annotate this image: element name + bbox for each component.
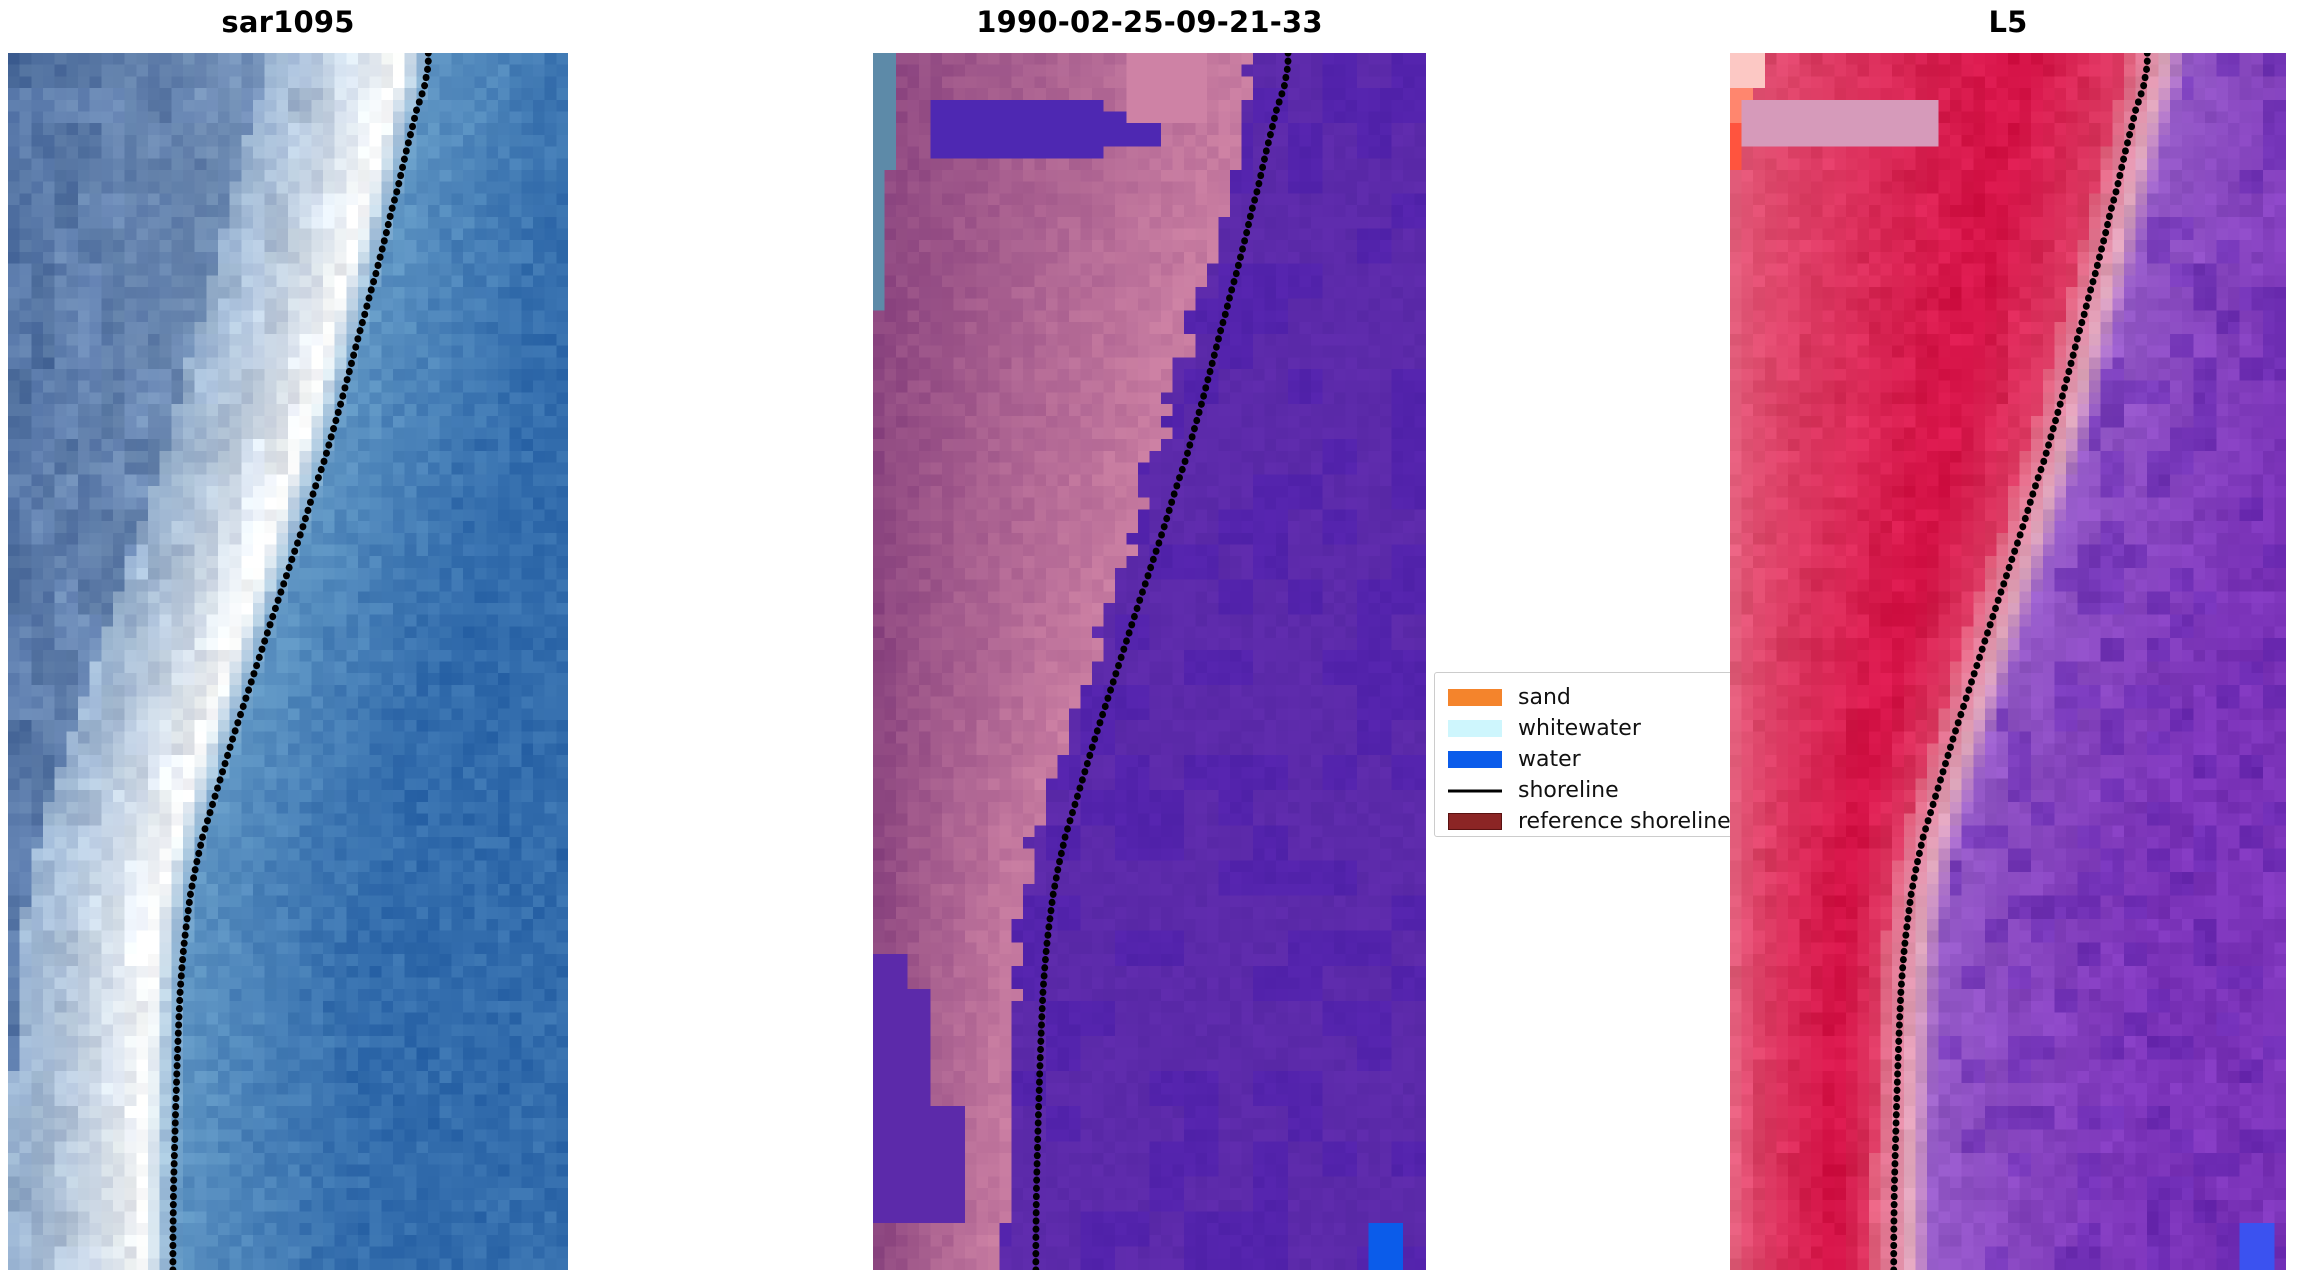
legend-item-shoreline: shoreline bbox=[1448, 775, 1774, 806]
legend-item-water: water bbox=[1448, 744, 1774, 775]
whitewater-swatch bbox=[1448, 720, 1502, 737]
legend-label-shoreline: shoreline bbox=[1518, 780, 1619, 802]
legend-label-whitewater: whitewater bbox=[1518, 718, 1641, 740]
panel-title-l5: L5 bbox=[1730, 5, 2286, 39]
sar-image bbox=[8, 53, 568, 1270]
panel-l5: L5 bbox=[1730, 0, 2286, 1270]
figure-canvas: sar1095 1990-02-25-09-21-33 sand whitewa… bbox=[0, 0, 2297, 1283]
panel-title-sar: sar1095 bbox=[8, 5, 568, 39]
panel-title-classified: 1990-02-25-09-21-33 bbox=[873, 5, 1426, 39]
shoreline-line-icon bbox=[1448, 782, 1502, 799]
panel-sar: sar1095 bbox=[8, 0, 568, 1270]
legend-item-sand: sand bbox=[1448, 682, 1774, 713]
legend-item-whitewater: whitewater bbox=[1448, 713, 1774, 744]
panel-classified: 1990-02-25-09-21-33 bbox=[873, 0, 1426, 1270]
sand-swatch bbox=[1448, 689, 1502, 706]
reference-buffer-swatch bbox=[1448, 813, 1502, 830]
classified-image bbox=[873, 53, 1426, 1270]
l5-image bbox=[1730, 53, 2286, 1270]
water-swatch bbox=[1448, 751, 1502, 768]
legend-label-water: water bbox=[1518, 749, 1581, 771]
legend-item-reference-buffer: reference shoreline buffer bbox=[1448, 806, 1774, 837]
legend-label-sand: sand bbox=[1518, 687, 1571, 709]
